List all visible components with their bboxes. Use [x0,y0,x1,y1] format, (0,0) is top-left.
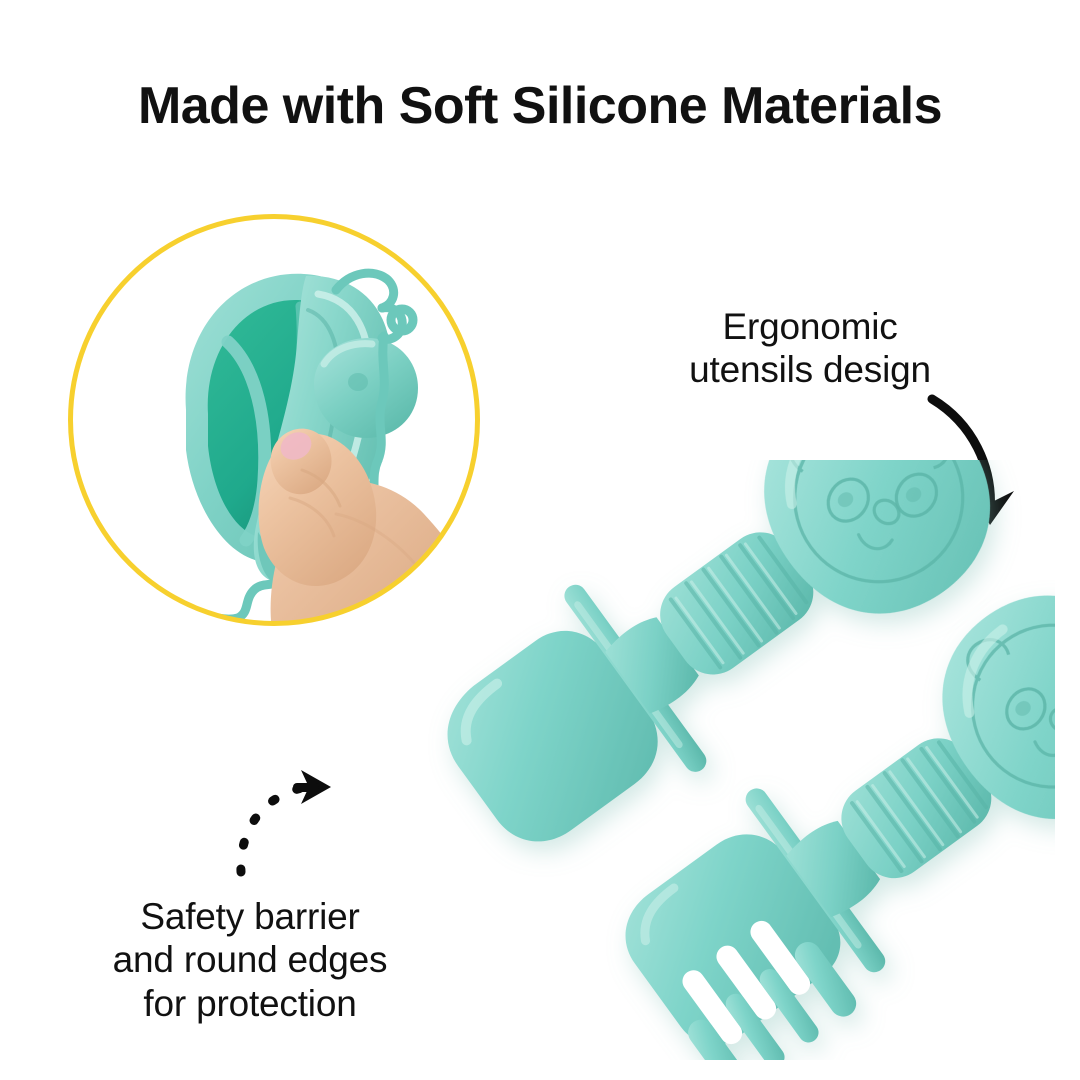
curved-dashed-arrow-up-right-icon [215,760,355,885]
page-title: Made with Soft Silicone Materials [0,78,1080,135]
infographic-canvas: Made with Soft Silicone Materials [0,0,1080,1080]
suction-cup [314,338,418,438]
callout-ergonomic-label: Ergonomic utensils design [620,305,1000,392]
silicone-utensils-spoon-and-fork [355,460,1055,1060]
